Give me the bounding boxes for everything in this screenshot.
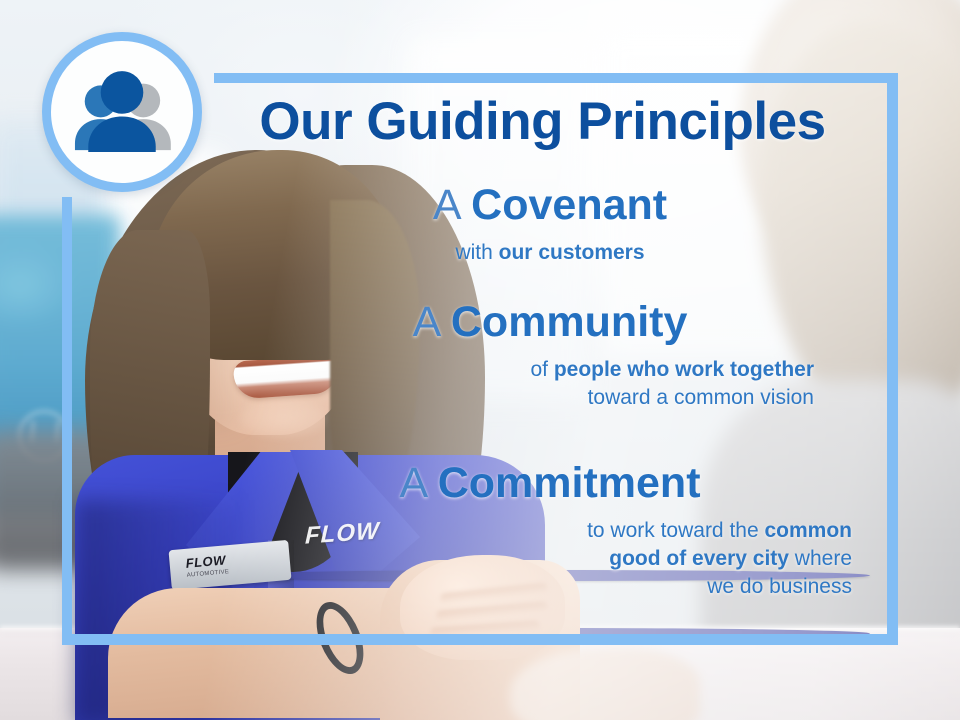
subtext-line: to work toward the common [230,517,852,545]
principle-word: Community [451,298,688,346]
principle-article: A [413,298,439,346]
people-group-icon [51,41,193,183]
subtext-run-bold: people who work together [554,358,814,381]
principle-heading: A Community [230,300,870,346]
subtext-run: toward a common vision [588,386,814,409]
subtext-run: we do business [707,575,852,598]
subtext-run: with [455,241,498,264]
page-title: Our Guiding Principles [215,94,870,150]
subtext-line: toward a common vision [230,384,814,412]
subtext-line: of people who work together [230,356,814,384]
principle-word: Commitment [438,459,701,507]
principle-article: A [399,459,425,507]
frame-bottom-border [62,634,898,645]
principle-article: A [433,181,459,229]
principle-commitment: A Commitment to work toward the common g… [230,461,870,601]
frame-right-border [887,73,898,645]
subtext-run-bold: common [764,519,852,542]
principle-word: Covenant [471,181,667,229]
subtext-line: with our customers [230,239,870,267]
frame-left-border [62,197,72,645]
principle-subtext: to work toward the common good of every … [230,517,870,601]
frame-top-border [214,73,898,83]
subtext-run: of [530,358,553,381]
subtext-run-bold: good of every city [609,547,789,570]
principle-subtext: of people who work together toward a com… [230,356,870,412]
principle-covenant: A Covenant with our customers [230,183,870,267]
subtext-line: we do business [230,573,852,601]
principle-heading: A Covenant [230,183,870,229]
subtext-line: good of every city where [230,545,852,573]
guiding-principles-graphic: FLOW AUTOMOTIVE FLOW [0,0,960,720]
people-group-icon-badge [42,32,202,192]
subtext-run: to work toward the [587,519,764,542]
principle-heading: A Commitment [230,461,870,507]
principle-community: A Community of people who work together … [230,300,870,412]
principle-subtext: with our customers [230,239,870,267]
subtext-run: where [789,547,852,570]
subtext-run-bold: our customers [499,241,645,264]
